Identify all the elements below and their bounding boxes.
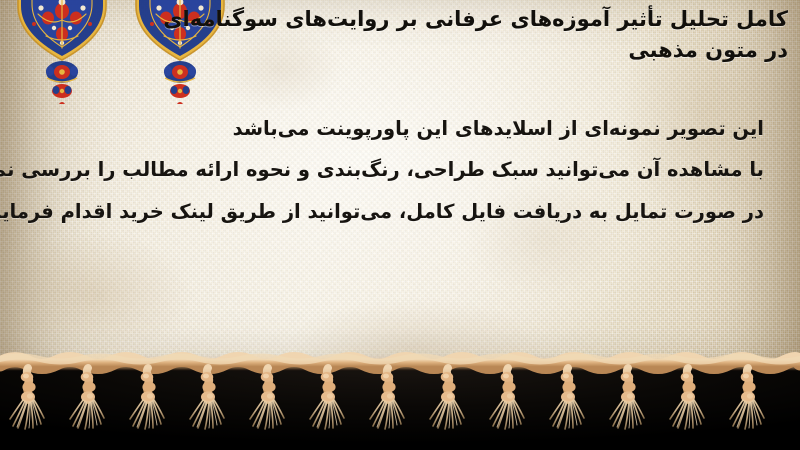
slide-body-line-2: با مشاهده آن می‌توانید سبک طراحی، رنگ‌بن… <box>44 149 764 190</box>
slide-title-line-1: کامل تحلیل تأثیر آموزه‌های عرفانی بر روا… <box>188 4 788 35</box>
slide-body: این تصویر نمونه‌ای از اسلایدهای این پاور… <box>44 108 764 232</box>
slide-body-line-1: این تصویر نمونه‌ای از اسلایدهای این پاور… <box>44 108 764 149</box>
carpet-band <box>0 364 800 450</box>
slide-title-line-2: در متون مذهبی <box>188 35 788 66</box>
presentation-slide: کامل تحلیل تأثیر آموزه‌های عرفانی بر روا… <box>0 0 800 450</box>
slide-body-line-3: در صورت تمایل به دریافت فایل کامل، می‌تو… <box>44 191 764 232</box>
carpet-tassel-fringe <box>0 348 800 440</box>
slide-title: کامل تحلیل تأثیر آموزه‌های عرفانی بر روا… <box>188 4 788 66</box>
